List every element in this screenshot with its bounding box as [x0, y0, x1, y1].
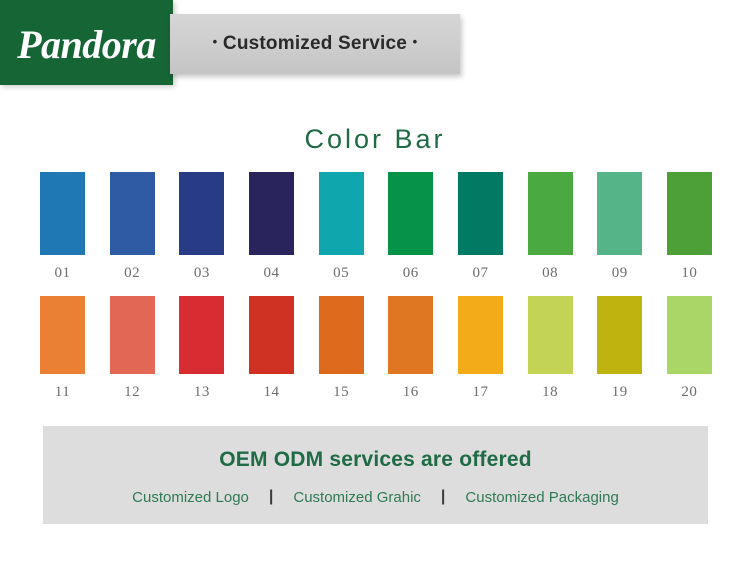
color-chip[interactable] — [528, 172, 573, 255]
color-chip[interactable] — [388, 296, 433, 374]
customization-option: Customized Grahic — [293, 489, 421, 506]
color-swatch-17[interactable]: 17 — [458, 296, 503, 401]
color-swatch-20[interactable]: 20 — [667, 296, 712, 401]
color-chip[interactable] — [388, 172, 433, 255]
customized-service-label: • Customized Service • — [213, 33, 418, 55]
customization-option: Customized Logo — [132, 489, 249, 506]
color-swatch-03[interactable]: 03 — [179, 172, 224, 282]
color-swatch-label: 08 — [542, 265, 558, 282]
oem-odm-headline: OEM ODM services are offered — [219, 448, 532, 472]
color-swatch-06[interactable]: 06 — [388, 172, 433, 282]
color-swatch-02[interactable]: 02 — [110, 172, 155, 282]
color-chip[interactable] — [249, 296, 294, 374]
color-swatch-label: 17 — [472, 384, 488, 401]
color-swatch-label: 14 — [263, 384, 279, 401]
color-chip[interactable] — [597, 296, 642, 374]
oem-odm-banner: OEM ODM services are offered Customized … — [43, 426, 708, 524]
color-chip[interactable] — [319, 296, 364, 374]
color-swatch-label: 20 — [681, 384, 697, 401]
customized-service-text: Customized Service — [223, 33, 407, 54]
color-swatch-08[interactable]: 08 — [528, 172, 573, 282]
color-swatch-row-2: 11121314151617181920 — [40, 296, 712, 401]
color-swatch-label: 10 — [681, 265, 697, 282]
bullet-left-icon: • — [213, 34, 218, 49]
color-swatch-04[interactable]: 04 — [249, 172, 294, 282]
color-chip[interactable] — [40, 296, 85, 374]
color-chip[interactable] — [458, 172, 503, 255]
color-swatch-label: 03 — [194, 265, 210, 282]
color-swatch-label: 13 — [194, 384, 210, 401]
color-swatch-11[interactable]: 11 — [40, 296, 85, 401]
color-swatch-label: 05 — [333, 265, 349, 282]
color-chip[interactable] — [110, 296, 155, 374]
color-chip[interactable] — [319, 172, 364, 255]
color-chip[interactable] — [179, 172, 224, 255]
color-swatch-13[interactable]: 13 — [179, 296, 224, 401]
brand-logo-block[interactable]: Pandora — [0, 0, 173, 85]
color-swatch-label: 16 — [403, 384, 419, 401]
color-swatch-label: 06 — [403, 265, 419, 282]
color-swatch-07[interactable]: 07 — [458, 172, 503, 282]
color-swatch-15[interactable]: 15 — [319, 296, 364, 401]
color-swatch-label: 18 — [542, 384, 558, 401]
color-swatch-label: 09 — [612, 265, 628, 282]
color-swatch-label: 01 — [55, 265, 71, 282]
brand-logo-text: Pandora — [17, 25, 156, 65]
color-swatch-05[interactable]: 05 — [319, 172, 364, 282]
customization-options-list: Customized Logo|Customized Grahic|Custom… — [132, 488, 619, 506]
color-chip[interactable] — [179, 296, 224, 374]
option-separator: | — [441, 488, 445, 506]
color-swatch-18[interactable]: 18 — [528, 296, 573, 401]
color-swatch-01[interactable]: 01 — [40, 172, 85, 282]
color-swatch-label: 15 — [333, 384, 349, 401]
color-swatch-label: 19 — [612, 384, 628, 401]
color-swatch-label: 11 — [55, 384, 70, 401]
page-header: Pandora • Customized Service • — [0, 0, 750, 86]
color-chip[interactable] — [667, 172, 712, 255]
color-swatch-label: 02 — [124, 265, 140, 282]
customized-service-banner: • Customized Service • — [170, 14, 460, 74]
color-swatch-14[interactable]: 14 — [249, 296, 294, 401]
color-chip[interactable] — [40, 172, 85, 255]
color-chip[interactable] — [667, 296, 712, 374]
color-swatch-label: 12 — [124, 384, 140, 401]
color-swatch-label: 07 — [472, 265, 488, 282]
color-chip[interactable] — [249, 172, 294, 255]
color-chip[interactable] — [597, 172, 642, 255]
customization-option: Customized Packaging — [465, 489, 618, 506]
color-chip[interactable] — [110, 172, 155, 255]
color-chip[interactable] — [458, 296, 503, 374]
page-title: Color Bar — [0, 124, 750, 155]
color-swatch-19[interactable]: 19 — [597, 296, 642, 401]
color-swatch-16[interactable]: 16 — [388, 296, 433, 401]
color-swatch-row-1: 01020304050607080910 — [40, 172, 712, 282]
color-chip[interactable] — [528, 296, 573, 374]
option-separator: | — [269, 488, 273, 506]
bullet-right-icon: • — [413, 34, 418, 49]
color-swatch-09[interactable]: 09 — [597, 172, 642, 282]
color-swatch-label: 04 — [263, 265, 279, 282]
color-swatch-10[interactable]: 10 — [667, 172, 712, 282]
color-swatch-12[interactable]: 12 — [110, 296, 155, 401]
